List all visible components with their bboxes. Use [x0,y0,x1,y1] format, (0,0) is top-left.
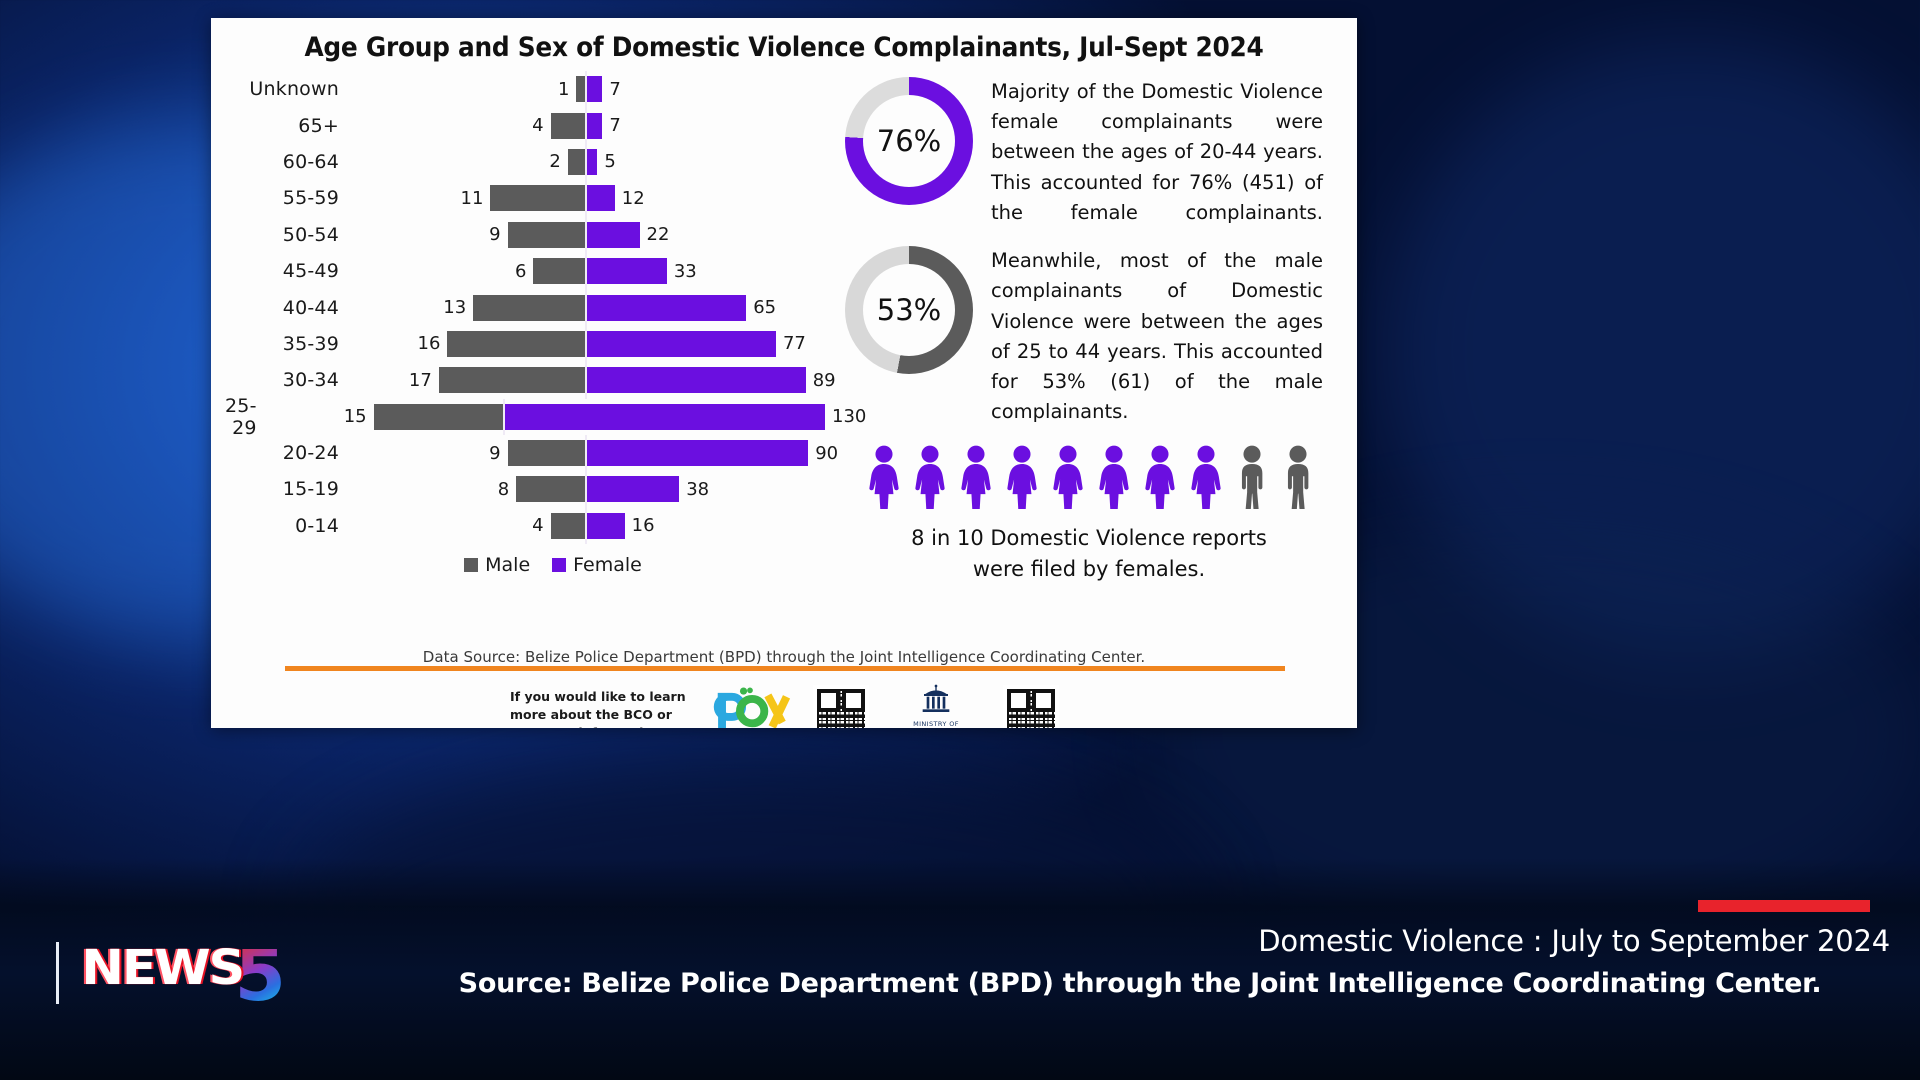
female-value-label: 22 [647,224,670,245]
pyramid-row: 15-19838 [225,471,841,507]
stat-text-female: Majority of the Domestic Violence female… [991,77,1323,228]
female-bar [585,76,602,102]
male-bar [533,258,585,284]
male-bar [568,149,585,175]
stat-block-male: 53% Meanwhile, most of the male complain… [845,246,1323,427]
male-side: 8 [353,476,585,502]
age-group-label: 45-49 [225,260,353,282]
center-axis [585,435,587,471]
female-figure-icon [1187,445,1225,513]
female-value-label: 90 [815,443,838,464]
male-figure-icon [1279,445,1317,513]
female-value-label: 77 [783,333,806,354]
female-value-label: 12 [622,188,645,209]
pyramid-bars: 15130 [271,399,867,435]
chart-legend: Male Female [225,554,841,576]
male-bar [576,76,585,102]
female-figure-icon [865,445,903,513]
pyramid-row: Unknown17 [225,71,841,107]
female-value-label: 89 [813,370,836,391]
age-group-label: Unknown [225,78,353,100]
pyramid-bars: 1365 [353,289,841,325]
stat-block-female: 76% Majority of the Domestic Violence fe… [845,77,1323,228]
female-value-label: 65 [753,297,776,318]
center-axis [585,217,587,253]
female-bar [585,113,602,139]
age-group-label: 0-14 [225,515,353,537]
pyramid-bars: 990 [353,435,841,471]
pyramid-bars: 25 [353,144,841,180]
banner-headline: Domestic Violence : July to September 20… [1258,924,1890,958]
male-side: 2 [353,149,585,175]
male-side: 4 [353,113,585,139]
male-swatch-icon [464,558,478,572]
male-bar [508,222,585,248]
pyramid-bars: 416 [353,508,841,544]
ministry-qr-code-icon[interactable] [1004,686,1058,728]
government-building-icon [916,684,956,716]
ministry-of-home-affairs-logo: MINISTRY OF HOME AFFAIRS AND NEW GROWTH … [884,684,988,728]
center-axis [585,180,587,216]
pyramid-bars: 17 [353,71,841,107]
male-side: 16 [353,331,585,357]
male-value-label: 2 [549,151,560,172]
age-group-label: 55-59 [225,187,353,209]
male-value-label: 9 [489,443,500,464]
age-group-label: 50-54 [225,224,353,246]
center-axis [585,508,587,544]
contact-text: If you would like to learn more about th… [510,680,696,728]
age-group-label: 65+ [225,115,353,137]
background-glow-right [1380,40,1920,660]
mha-line1: MINISTRY OF [884,720,988,728]
female-bar [585,440,808,466]
female-bar [585,331,776,357]
female-bar [585,185,615,211]
male-bar [551,113,585,139]
pyramid-row: 60-6425 [225,144,841,180]
male-value-label: 13 [443,297,466,318]
female-side: 38 [585,476,841,502]
age-group-label: 40-44 [225,297,353,319]
center-axis [585,471,587,507]
female-value-label: 7 [609,115,620,136]
female-value-label: 16 [632,515,655,536]
pyramid-bars: 838 [353,471,841,507]
female-figure-icon [1049,445,1087,513]
male-bar [508,440,585,466]
male-side: 15 [271,404,503,430]
news-lower-third-banner: NEWS 5 Domestic Violence : July to Septe… [0,858,1920,1080]
center-axis [585,71,587,107]
legend-label-female: Female [573,554,642,576]
population-pyramid-chart: Unknown1765+4760-642555-59111250-5492245… [211,71,841,584]
male-side: 13 [353,295,585,321]
female-side: 65 [585,295,841,321]
female-side: 22 [585,222,841,248]
legend-label-male: Male [485,554,530,576]
pyramid-bars: 47 [353,107,841,143]
female-side: 7 [585,113,841,139]
legend-item-male: Male [464,554,530,576]
pyramid-row: 45-49633 [225,253,841,289]
page-title: Age Group and Sex of Domestic Violence C… [257,18,1311,63]
female-bar [585,222,640,248]
female-bar [585,367,806,393]
pyramid-row: 55-591112 [225,180,841,216]
female-bar [585,258,667,284]
center-axis [585,326,587,362]
age-group-label: 20-24 [225,442,353,464]
female-swatch-icon [552,558,566,572]
male-value-label: 16 [418,333,441,354]
insights-pane: 76% Majority of the Domestic Violence fe… [841,71,1357,584]
female-figure-icon [1141,445,1179,513]
pyramid-bars: 1677 [353,326,841,362]
center-axis [585,107,587,143]
age-group-label: 30-34 [225,369,353,391]
female-bar [585,513,625,539]
pyramid-rows: Unknown1765+4760-642555-59111250-5492245… [225,71,841,544]
pictogram-note: 8 in 10 Domestic Violence reports were f… [855,523,1323,584]
female-value-label: 33 [674,261,697,282]
female-side: 77 [585,331,841,357]
male-bar [516,476,585,502]
center-axis [503,399,505,435]
female-value-label: 38 [686,479,709,500]
center-axis [585,253,587,289]
donut-label-female: 76% [877,124,941,158]
pyramid-bars: 1789 [353,362,841,398]
data-source-text: Data Source: Belize Police Department (B… [228,648,1340,666]
male-side: 9 [353,222,585,248]
male-bar [447,331,585,357]
orange-divider [285,666,1285,671]
pictogram-people [859,445,1323,513]
center-axis [585,362,587,398]
male-side: 1 [353,76,585,102]
age-group-label: 15-19 [225,478,353,500]
male-value-label: 4 [532,115,543,136]
male-bar [374,404,503,430]
female-side: 12 [585,185,841,211]
male-side: 4 [353,513,585,539]
pyramid-bars: 633 [353,253,841,289]
donut-chart-male: 53% [845,246,973,374]
pyramid-row: 50-54922 [225,217,841,253]
male-value-label: 17 [409,370,432,391]
male-value-label: 11 [461,188,484,209]
bco-logo: BELIZE CRIME OBSERVATORY [712,684,798,728]
pyramid-bars: 1112 [353,180,841,216]
female-figure-icon [1003,445,1041,513]
female-value-label: 5 [604,151,615,172]
pyramid-row: 65+47 [225,107,841,143]
male-bar [439,367,585,393]
pyramid-row: 20-24990 [225,435,841,471]
female-value-label: 7 [609,79,620,100]
male-side: 11 [353,185,585,211]
female-bar [585,476,679,502]
female-figure-icon [957,445,995,513]
infographic-body: Unknown1765+4760-642555-59111250-5492245… [211,63,1357,584]
male-value-label: 1 [558,79,569,100]
female-side: 16 [585,513,841,539]
male-value-label: 6 [515,261,526,282]
female-bar [585,295,746,321]
bco-logo-icon [712,684,798,728]
female-side: 5 [585,149,841,175]
pyramid-row: 40-441365 [225,289,841,325]
bco-qr-code-icon[interactable] [814,686,868,728]
age-group-label: 35-39 [225,333,353,355]
female-side: 7 [585,76,841,102]
male-value-label: 9 [489,224,500,245]
male-bar [490,185,585,211]
center-axis [585,144,587,180]
female-side: 130 [503,404,867,430]
male-bar [551,513,585,539]
donut-chart-female: 76% [845,77,973,205]
age-group-label: 60-64 [225,151,353,173]
donut-label-male: 53% [877,293,941,327]
red-accent-tab [1698,900,1870,912]
banner-source-text: Source: Belize Police Department (BPD) t… [0,968,1920,999]
footer-contact-strip: If you would like to learn more about th… [211,680,1357,728]
male-side: 6 [353,258,585,284]
female-figure-icon [911,445,949,513]
pyramid-row: 35-391677 [225,326,841,362]
female-side: 33 [585,258,841,284]
female-bar [503,404,825,430]
male-value-label: 4 [532,515,543,536]
pictogram-note-line1: 8 in 10 Domestic Violence reports [855,523,1323,553]
legend-item-female: Female [552,554,642,576]
male-value-label: 8 [498,479,509,500]
infographic-card: Age Group and Sex of Domestic Violence C… [211,18,1357,728]
age-group-label: 25-29 [225,395,271,439]
female-value-label: 130 [832,406,866,427]
pyramid-bars: 922 [353,217,841,253]
center-axis [585,289,587,325]
pictogram-note-line2: were filed by females. [855,554,1323,584]
pyramid-row: 25-2915130 [225,399,841,435]
female-figure-icon [1095,445,1133,513]
male-bar [473,295,585,321]
male-side: 9 [353,440,585,466]
pyramid-row: 30-341789 [225,362,841,398]
stat-text-male: Meanwhile, most of the male complainants… [991,246,1323,427]
male-value-label: 15 [344,406,367,427]
female-side: 89 [585,367,841,393]
pyramid-row: 0-14416 [225,508,841,544]
male-side: 17 [353,367,585,393]
female-side: 90 [585,440,841,466]
male-figure-icon [1233,445,1271,513]
